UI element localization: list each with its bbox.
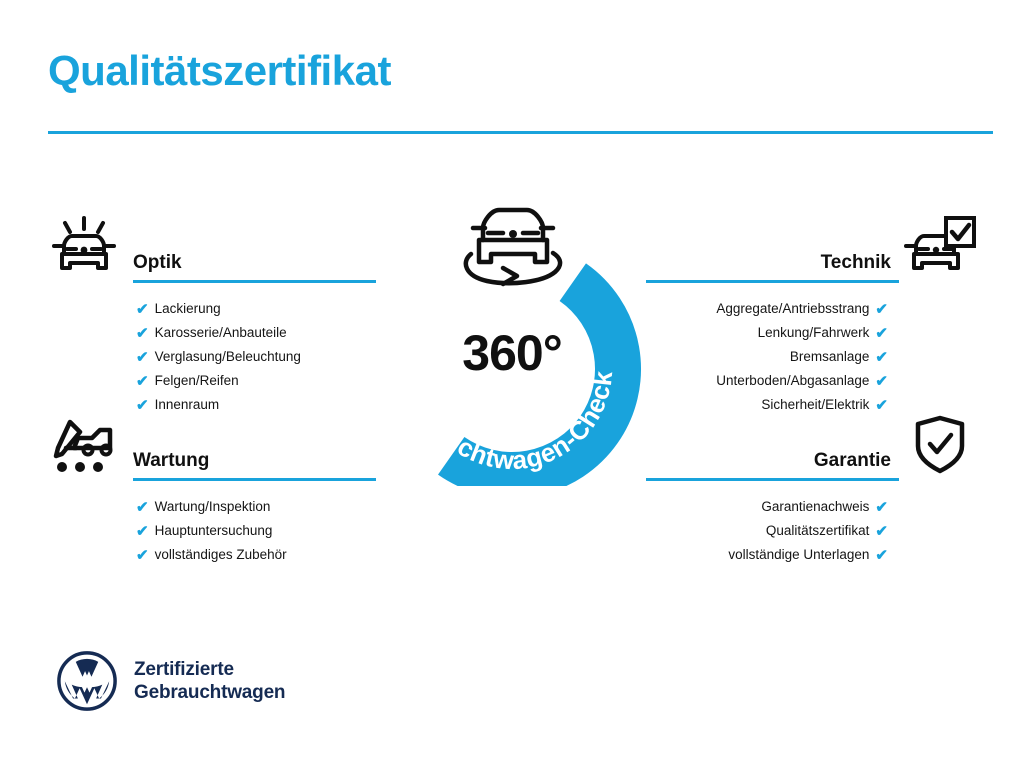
check-icon: ✔ xyxy=(136,302,149,317)
section-garantie-title: Garantie xyxy=(814,451,891,472)
section-technik-list: Aggregate/Antriebsstrang✔ Lenkung/Fahrwe… xyxy=(646,297,888,417)
list-item-label: Garantienachweis xyxy=(761,500,869,514)
vw-logo-line1: Zertifizierte xyxy=(134,658,285,681)
check-icon: ✔ xyxy=(136,398,149,413)
section-wartung-title: Wartung xyxy=(133,451,209,472)
section-optik: Optik ✔Lackierung ✔Karosserie/Anbauteile… xyxy=(48,228,378,417)
list-item: ✔Wartung/Inspektion xyxy=(136,495,378,519)
vw-logo-icon xyxy=(56,650,118,712)
check-icon: ✔ xyxy=(875,350,888,365)
section-wartung-underline xyxy=(133,478,376,481)
section-optik-underline xyxy=(133,280,376,283)
list-item-label: Wartung/Inspektion xyxy=(155,500,271,514)
list-item: ✔Felgen/Reifen xyxy=(136,369,378,393)
section-garantie-list: Garantienachweis✔ Qualitätszertifikat✔ v… xyxy=(646,495,888,567)
title-divider xyxy=(48,131,993,134)
badge-center-label: 360° xyxy=(376,328,648,378)
list-item-label: Lackierung xyxy=(155,302,221,316)
list-item: ✔vollständiges Zubehör xyxy=(136,543,378,567)
section-wartung: Wartung ✔Wartung/Inspektion ✔Hauptunters… xyxy=(48,426,378,567)
list-item-label: Sicherheit/Elektrik xyxy=(761,398,869,412)
check-icon: ✔ xyxy=(875,374,888,389)
vw-certified-logo: Zertifizierte Gebrauchtwagen xyxy=(56,650,285,712)
check-icon: ✔ xyxy=(136,548,149,563)
list-item: ✔Innenraum xyxy=(136,393,378,417)
section-technik-title: Technik xyxy=(821,253,891,274)
section-garantie-underline xyxy=(646,478,899,481)
car-rotate-360-icon xyxy=(455,196,571,290)
vw-logo-line2: Gebrauchtwagen xyxy=(134,681,285,704)
list-item-label: vollständige Unterlagen xyxy=(728,548,869,562)
list-item: Aggregate/Antriebsstrang✔ xyxy=(646,297,888,321)
vw-logo-wordmark: Zertifizierte Gebrauchtwagen xyxy=(134,658,285,704)
list-item-label: Felgen/Reifen xyxy=(155,374,239,388)
check-icon: ✔ xyxy=(136,500,149,515)
list-item: ✔Lackierung xyxy=(136,297,378,321)
section-garantie: Garantie Garantienachweis✔ Qualitätszert… xyxy=(646,426,976,567)
list-item-label: Hauptuntersuchung xyxy=(155,524,273,538)
list-item-label: Karosserie/Anbauteile xyxy=(155,326,287,340)
list-item-label: Qualitätszertifikat xyxy=(766,524,870,538)
list-item: ✔Verglasung/Beleuchtung xyxy=(136,345,378,369)
list-item: ✔Hauptuntersuchung xyxy=(136,519,378,543)
check-icon: ✔ xyxy=(875,302,888,317)
car-service-pen-icon xyxy=(48,414,120,478)
check-icon: ✔ xyxy=(875,326,888,341)
list-item: Garantienachweis✔ xyxy=(646,495,888,519)
list-item-label: Lenkung/Fahrwerk xyxy=(758,326,870,340)
page-title: Qualitätszertifikat xyxy=(48,50,391,92)
badge-360-gebrauchtwagen-check: Gebrauchtwagen-Check 360° xyxy=(376,196,648,486)
list-item: Qualitätszertifikat✔ xyxy=(646,519,888,543)
list-item: Bremsanlage✔ xyxy=(646,345,888,369)
section-technik-underline xyxy=(646,280,899,283)
list-item: vollständige Unterlagen✔ xyxy=(646,543,888,567)
shield-check-icon xyxy=(904,414,976,478)
check-icon: ✔ xyxy=(136,350,149,365)
car-shine-icon xyxy=(48,216,120,280)
check-icon: ✔ xyxy=(875,398,888,413)
list-item: ✔Karosserie/Anbauteile xyxy=(136,321,378,345)
check-icon: ✔ xyxy=(136,374,149,389)
list-item-label: Bremsanlage xyxy=(790,350,870,364)
section-optik-title: Optik xyxy=(133,253,182,274)
list-item-label: vollständiges Zubehör xyxy=(155,548,287,562)
list-item: Unterboden/Abgasanlage✔ xyxy=(646,369,888,393)
list-item: Lenkung/Fahrwerk✔ xyxy=(646,321,888,345)
check-icon: ✔ xyxy=(136,326,149,341)
section-wartung-list: ✔Wartung/Inspektion ✔Hauptuntersuchung ✔… xyxy=(136,495,378,567)
section-optik-list: ✔Lackierung ✔Karosserie/Anbauteile ✔Verg… xyxy=(136,297,378,417)
section-technik: Technik Aggregate/Antriebsstrang✔ Lenkun… xyxy=(646,228,976,417)
check-icon: ✔ xyxy=(875,524,888,539)
list-item: Sicherheit/Elektrik✔ xyxy=(646,393,888,417)
list-item-label: Innenraum xyxy=(155,398,220,412)
list-item-label: Unterboden/Abgasanlage xyxy=(716,374,869,388)
check-icon: ✔ xyxy=(875,500,888,515)
car-checkbox-icon xyxy=(904,216,976,280)
list-item-label: Aggregate/Antriebsstrang xyxy=(716,302,869,316)
check-icon: ✔ xyxy=(875,548,888,563)
list-item-label: Verglasung/Beleuchtung xyxy=(155,350,301,364)
check-icon: ✔ xyxy=(136,524,149,539)
